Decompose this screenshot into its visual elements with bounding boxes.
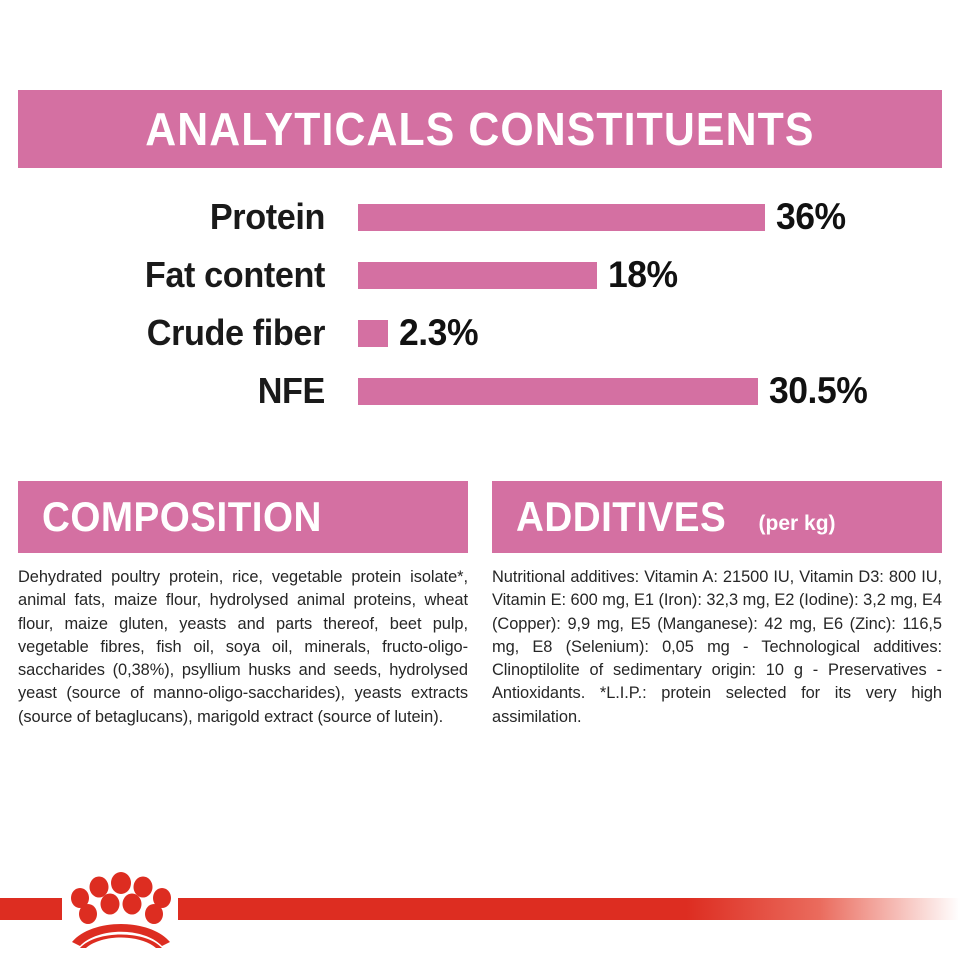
bar-value-nfe: 30.5% [769,370,867,412]
composition-banner: COMPOSITION [18,481,468,553]
bar-label-fat-content: Fat content [16,254,325,296]
brand-footer-band [0,898,960,920]
band-segment-right [178,898,960,920]
additives-section: ADDITIVES (per kg) Nutritional additives… [492,481,942,729]
composition-body: Dehydrated poultry protein, rice, vegeta… [18,566,468,729]
additives-body: Nutritional additives: Vitamin A: 21500 … [492,566,942,729]
chart-row: NFE 30.5% [0,362,960,420]
chart-row: Crude fiber 2.3% [0,304,960,362]
band-segment-left [0,898,62,920]
additives-title: ADDITIVES [516,493,726,541]
bar-group-fat-content: 18% [358,246,681,304]
nutrition-label-page: ANALYTICALS CONSTITUENTS Protein 36% Fat… [0,0,960,960]
additives-unit-note: (per kg) [759,512,836,536]
analytical-constituents-chart: Protein 36% Fat content 18% Crude fiber … [0,188,960,436]
additives-banner: ADDITIVES (per kg) [492,481,942,553]
bar-crude-fiber [358,320,388,347]
royal-canin-crown-icon [66,870,176,948]
bar-nfe [358,378,758,405]
bar-protein [358,204,765,231]
composition-section: COMPOSITION Dehydrated poultry protein, … [18,481,468,729]
analyticals-constituents-banner: ANALYTICALS CONSTITUENTS [18,90,942,168]
bar-value-protein: 36% [776,196,846,238]
bar-label-nfe: NFE [16,370,325,412]
page-title: ANALYTICALS CONSTITUENTS [145,102,814,156]
bar-fat-content [358,262,597,289]
bar-value-crude-fiber: 2.3% [399,312,478,354]
chart-row: Protein 36% [0,188,960,246]
composition-title: COMPOSITION [42,493,322,541]
bar-label-crude-fiber: Crude fiber [16,312,325,354]
bar-value-fat-content: 18% [608,254,678,296]
info-sections: COMPOSITION Dehydrated poultry protein, … [0,481,960,729]
chart-row: Fat content 18% [0,246,960,304]
bar-group-nfe: 30.5% [358,362,871,420]
bar-label-protein: Protein [16,196,325,238]
bar-group-protein: 36% [358,188,849,246]
bar-group-crude-fiber: 2.3% [358,304,481,362]
